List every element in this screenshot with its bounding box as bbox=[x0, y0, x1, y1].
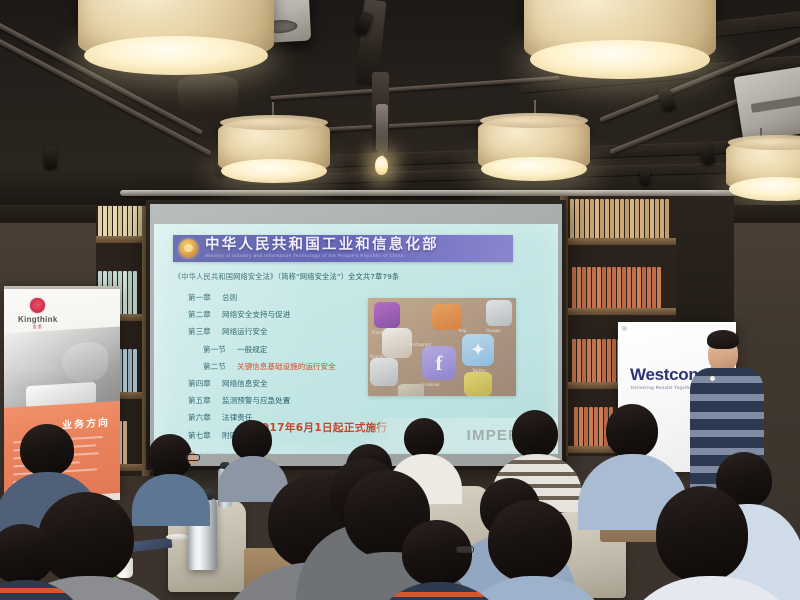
head bbox=[488, 500, 572, 582]
poster-top-rail bbox=[4, 286, 120, 289]
ministry-name-cn: 中华人民共和国工业和信息化部 bbox=[205, 238, 439, 253]
slide-subtitle: 《中华人民共和国网络安全法》（简称“网络安全法”）全文共7章79条 bbox=[174, 272, 399, 282]
drum-pendant-lamp bbox=[218, 118, 330, 176]
app-label: Google bbox=[486, 328, 501, 333]
kingthink-brand-name: Kingthink bbox=[18, 315, 58, 324]
app-label: Picasa bbox=[370, 354, 383, 359]
toc-chapter-number: 第七章 bbox=[188, 430, 222, 441]
eyeglasses bbox=[456, 546, 474, 553]
track-light bbox=[44, 146, 57, 168]
notes-icon bbox=[464, 372, 492, 396]
social-media-app-icons-photo: iTunes Store Instagram Picasa f Facebook… bbox=[368, 298, 516, 396]
toc-chapter-number: 第六章 bbox=[188, 412, 222, 423]
toc-chapter-number: 第五章 bbox=[188, 395, 222, 406]
westcon-logo: Westcon bbox=[630, 366, 698, 383]
saucer bbox=[166, 534, 188, 540]
toc-section-title: 一般规定 bbox=[237, 344, 267, 355]
toc-section-title: 关键信息基础设施的运行安全 bbox=[237, 361, 336, 372]
toc-section-number: 第二节 bbox=[203, 361, 237, 372]
head bbox=[606, 404, 658, 458]
ministry-banner: 中华人民共和国工业和信息化部 Ministry of Industry and … bbox=[173, 235, 513, 262]
kingthink-brand-name-cn: 金思 bbox=[18, 324, 58, 330]
head bbox=[402, 520, 472, 586]
ceiling-rail bbox=[270, 76, 560, 100]
toc-chapter-title: 监测预警与应急处置 bbox=[222, 395, 290, 406]
drum-pendant-lamp bbox=[478, 116, 590, 174]
misc-app-icon bbox=[398, 384, 424, 396]
slide-footer-text: 2017年6月1日起正式施行 bbox=[254, 420, 387, 435]
poster-section-title: 业务方向 bbox=[62, 414, 110, 432]
toc-chapter-title: 总则 bbox=[222, 292, 237, 303]
picasa-icon bbox=[370, 358, 398, 386]
lapel-microphone bbox=[710, 376, 715, 381]
head bbox=[20, 424, 74, 476]
head bbox=[232, 420, 272, 460]
drum-pendant-lamp bbox=[78, 0, 274, 64]
head bbox=[404, 418, 444, 458]
toc-chapter-number: 第三章 bbox=[188, 326, 222, 337]
drum-pendant-lamp bbox=[524, 0, 716, 68]
toc-row: 第二章 网络安全支持与促进 bbox=[188, 309, 363, 320]
head bbox=[512, 410, 558, 458]
kingthink-logo: Kingthink 金思 bbox=[18, 298, 58, 330]
toc-chapter-number: 第一章 bbox=[188, 292, 222, 303]
hand-shape bbox=[62, 341, 108, 384]
toc-row: 第三章 网络运行安全 bbox=[188, 326, 363, 337]
westcon-brand-name: Westcon bbox=[630, 366, 698, 383]
ac-vent-slot bbox=[750, 94, 800, 113]
itunes-store-icon bbox=[374, 302, 400, 328]
twitter-icon: ✦ bbox=[462, 334, 494, 366]
track-light bbox=[640, 168, 650, 184]
toc-row-highlighted: 第二节 关键信息基础设施的运行安全 bbox=[188, 361, 363, 372]
screen-surface: 中华人民共和国工业和信息化部 Ministry of Industry and … bbox=[150, 204, 562, 466]
instagram-icon bbox=[382, 328, 412, 358]
yelp-icon bbox=[432, 304, 462, 330]
head bbox=[656, 486, 748, 582]
toc-chapter-number: 第四章 bbox=[188, 378, 222, 389]
toc-row: 第四章 网络信息安全 bbox=[188, 378, 363, 389]
projector-mount bbox=[178, 74, 238, 118]
toc-section-number: 第一节 bbox=[203, 344, 237, 355]
bulb-socket bbox=[378, 148, 385, 155]
toc-chapter-title: 网络信息安全 bbox=[222, 378, 268, 389]
ceiling bbox=[0, 0, 800, 215]
ceiling-conduit bbox=[376, 104, 388, 152]
google-icon bbox=[486, 300, 512, 326]
toc-row: 第一节 一般规定 bbox=[188, 344, 363, 355]
drum-pendant-lamp bbox=[726, 138, 800, 194]
national-emblem-icon bbox=[179, 239, 198, 258]
bare-bulb bbox=[375, 156, 388, 175]
facebook-icon: f bbox=[422, 346, 456, 380]
ac-vent bbox=[733, 63, 800, 142]
banner-grommet bbox=[622, 326, 627, 331]
projection-screen: 中华人民共和国工业和信息化部 Ministry of Industry and … bbox=[146, 200, 566, 470]
toc-chapter-title: 网络运行安全 bbox=[222, 326, 268, 337]
kingthink-flower-mark-icon bbox=[29, 297, 46, 314]
toc-chapter-title: 网络安全支持与促进 bbox=[222, 309, 290, 320]
toc-chapter-number: 第二章 bbox=[188, 309, 222, 320]
ministry-name-en: Ministry of Industry and Information Tec… bbox=[205, 254, 439, 258]
westcon-tagline: Delivering Results Together bbox=[631, 385, 694, 390]
toc-row: 第五章 监测预警与应急处置 bbox=[188, 395, 363, 406]
app-label: Yelp bbox=[458, 328, 466, 333]
toc-row: 第一章 总则 bbox=[188, 292, 363, 303]
presentation-slide: 中华人民共和国工业和信息化部 Ministry of Industry and … bbox=[154, 224, 558, 454]
head bbox=[38, 492, 134, 584]
eyeglasses bbox=[186, 454, 200, 461]
conference-room-photo: 中华人民共和国工业和信息化部 Ministry of Industry and … bbox=[0, 0, 800, 600]
presenter-hair bbox=[707, 330, 739, 349]
